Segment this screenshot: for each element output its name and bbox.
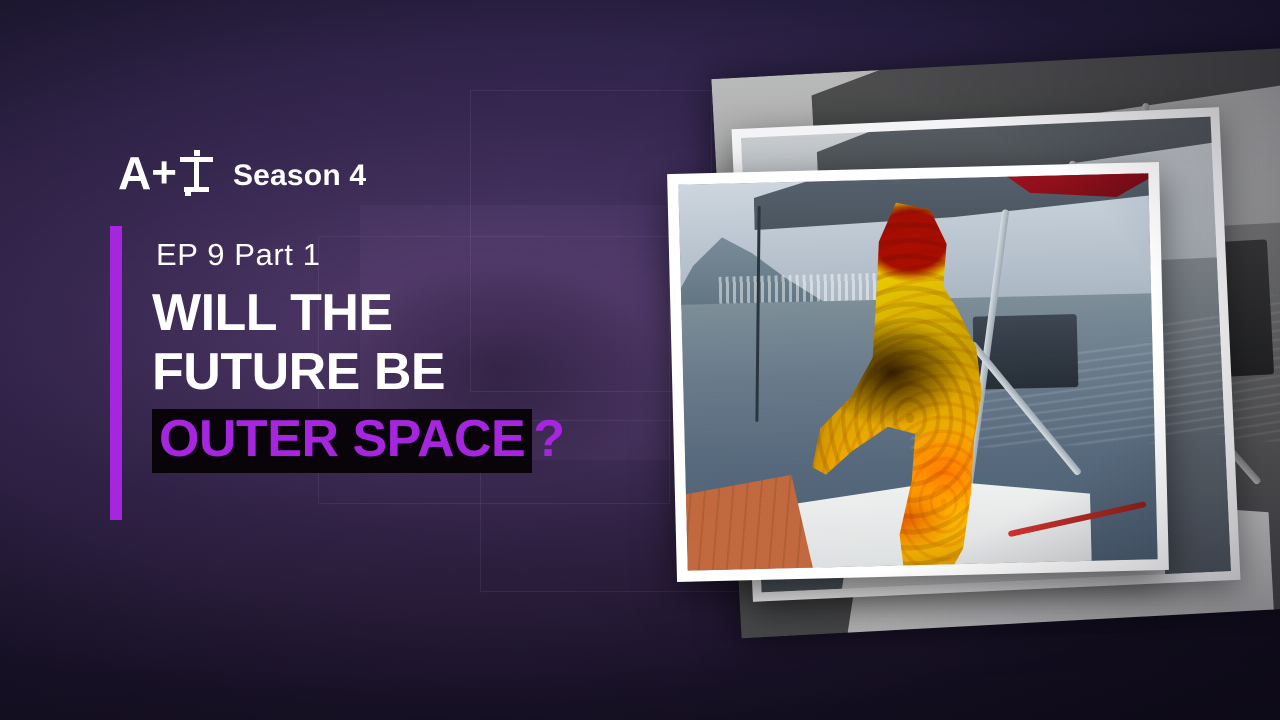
purple-accent-bar: [110, 226, 122, 520]
logo-at-mark: A +: [118, 150, 213, 196]
title-highlight: OUTER SPACE: [152, 409, 532, 473]
page-title: WILL THE FUTURE BE OUTER SPACE?: [152, 288, 712, 481]
video-thumbnail: A + Season 4 EP 9 Part 1 WILL THE FUTURE…: [0, 0, 1280, 720]
title-line-2: FUTURE BE: [152, 347, 712, 398]
brand-logo: A + Season 4: [118, 150, 366, 196]
title-line-1: WILL THE: [152, 288, 712, 339]
title-question-mark: ?: [532, 414, 564, 465]
season-label: Season 4: [233, 159, 366, 196]
logo-letter-a: A: [118, 150, 150, 196]
logo-plus-sign: +: [151, 151, 176, 195]
episode-label: EP 9 Part 1: [156, 237, 321, 273]
title-line-3: OUTER SPACE?: [152, 407, 712, 473]
t-square-mark-icon: [180, 150, 213, 196]
